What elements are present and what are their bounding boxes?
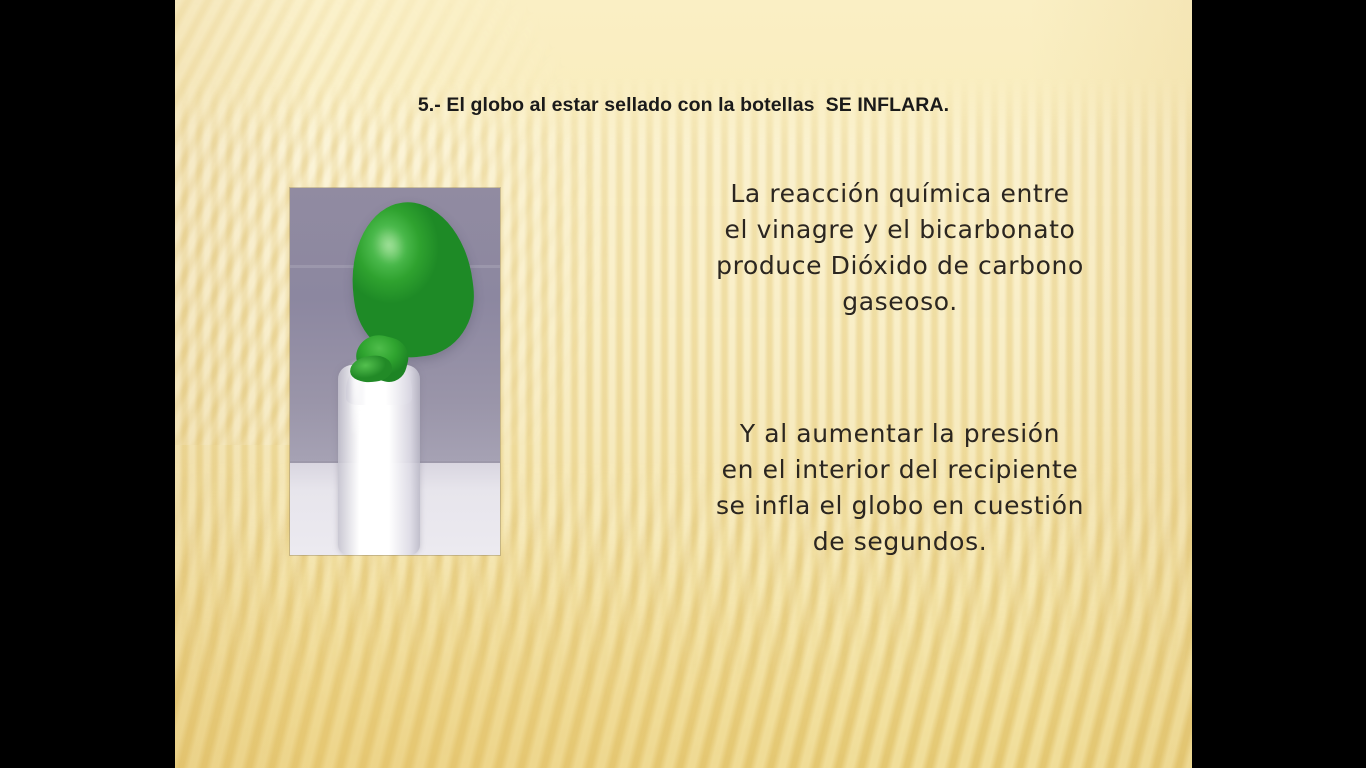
text-line: produce Dióxido de carbono xyxy=(615,248,1185,284)
text-line: se infla el globo en cuestión xyxy=(615,488,1185,524)
slide-stage: 5.- El globo al estar sellado con la bot… xyxy=(0,0,1366,768)
text-line: el vinagre y el bicarbonato xyxy=(615,212,1185,248)
letterbox-right xyxy=(1192,0,1366,768)
paragraph-pressure: Y al aumentar la presión en el interior … xyxy=(615,416,1185,560)
text-line: en el interior del recipiente xyxy=(615,452,1185,488)
experiment-photo xyxy=(290,188,500,555)
paragraph-reaction: La reacción química entre el vinagre y e… xyxy=(615,176,1185,320)
text-line: de segundos. xyxy=(615,524,1185,560)
text-line: Y al aumentar la presión xyxy=(615,416,1185,452)
text-line: gaseoso. xyxy=(615,284,1185,320)
letterbox-left xyxy=(0,0,175,768)
slide-canvas: 5.- El globo al estar sellado con la bot… xyxy=(175,0,1192,768)
slide-title: 5.- El globo al estar sellado con la bot… xyxy=(175,94,1192,117)
text-line: La reacción química entre xyxy=(615,176,1185,212)
